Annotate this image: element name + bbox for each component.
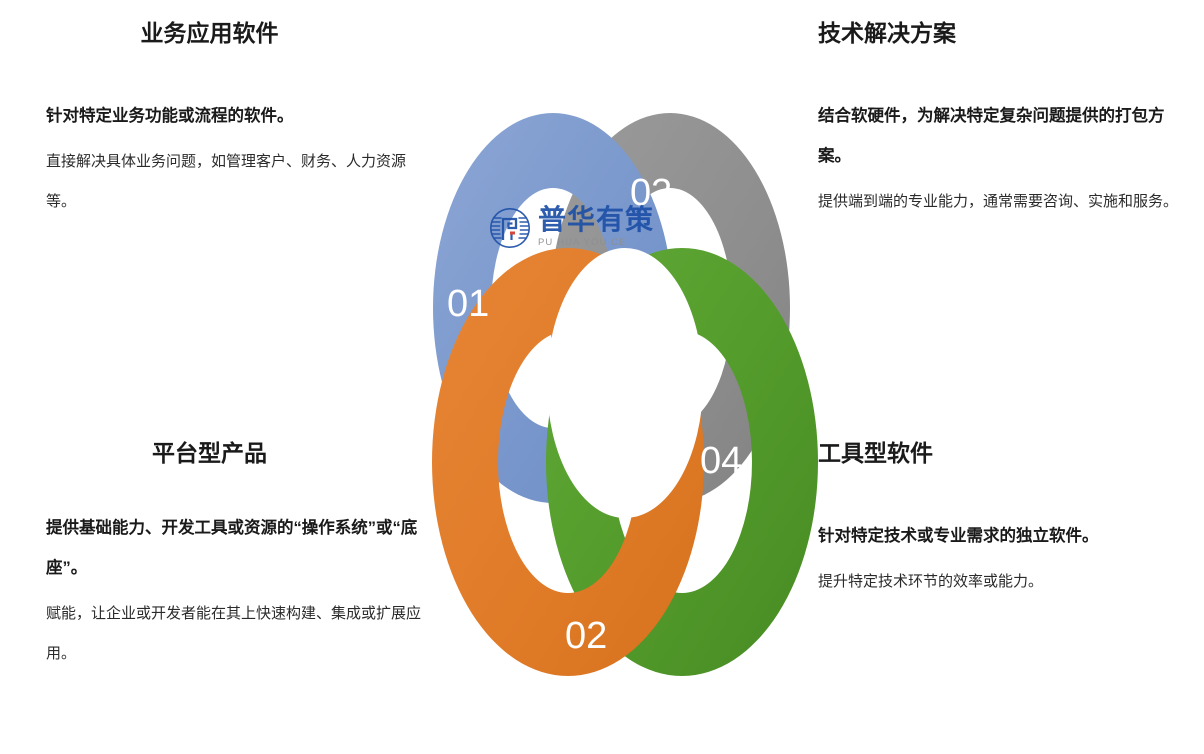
section-heading-04: 工具型软件	[818, 440, 1183, 468]
section-heading-03: 技术解决方案	[818, 20, 1183, 48]
section-lead-01: 针对特定业务功能或流程的软件。	[46, 96, 421, 136]
interlocking-rings-diagram: 01 02 03 04	[420, 58, 820, 698]
ring-label-01: 01	[447, 283, 489, 325]
section-body-04: 提升特定技术环节的效率或能力。	[818, 562, 1183, 602]
center-aperture	[547, 248, 703, 518]
section-platform-product: 平台型产品 提供基础能力、开发工具或资源的“操作系统”或“底座”。 赋能，让企业…	[46, 440, 421, 674]
section-technical-solution: 技术解决方案 结合软硬件，为解决特定复杂问题提供的打包方案。 提供端到端的专业能…	[818, 20, 1183, 222]
section-heading-02: 平台型产品	[46, 440, 421, 468]
section-body-01: 直接解决具体业务问题，如管理客户、财务、人力资源等。	[46, 142, 421, 222]
section-lead-04: 针对特定技术或专业需求的独立软件。	[818, 516, 1183, 556]
section-body-02: 赋能，让企业或开发者能在其上快速构建、集成或扩展应用。	[46, 594, 421, 674]
section-body-03: 提供端到端的专业能力，通常需要咨询、实施和服务。	[818, 182, 1183, 222]
section-business-application-software: 业务应用软件 针对特定业务功能或流程的软件。 直接解决具体业务问题，如管理客户、…	[46, 20, 421, 222]
section-heading-01: 业务应用软件	[46, 20, 421, 48]
section-tool-software: 工具型软件 针对特定技术或专业需求的独立软件。 提升特定技术环节的效率或能力。	[818, 440, 1183, 602]
ring-label-04: 04	[700, 440, 742, 482]
ring-label-03: 03	[630, 172, 672, 214]
section-lead-02: 提供基础能力、开发工具或资源的“操作系统”或“底座”。	[46, 508, 421, 589]
ring-label-02: 02	[565, 615, 607, 657]
section-lead-03: 结合软硬件，为解决特定复杂问题提供的打包方案。	[818, 96, 1183, 177]
